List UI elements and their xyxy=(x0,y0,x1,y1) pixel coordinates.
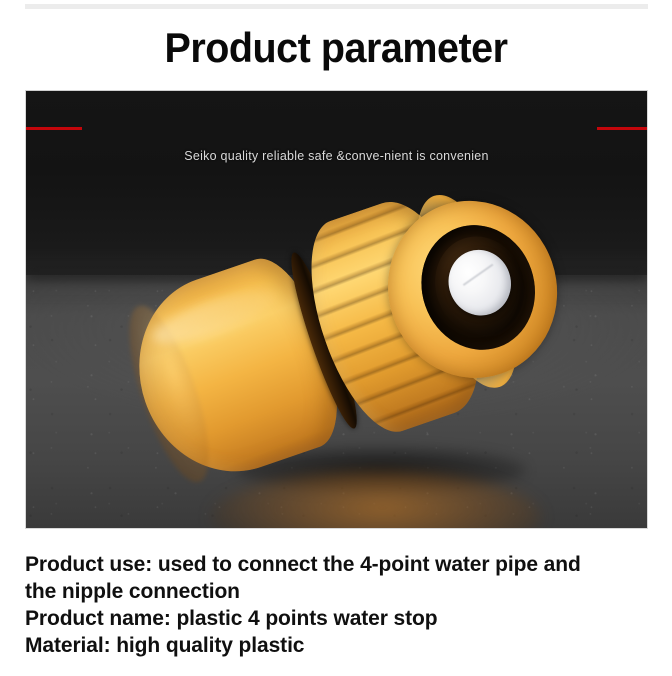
photo-tagline: Seiko quality reliable safe &conve-nient… xyxy=(26,149,647,163)
top-divider-strip xyxy=(25,4,648,9)
description-line: Material: high quality plastic xyxy=(25,632,655,659)
product-parameter-page: Product parameter Seiko quality reliable… xyxy=(0,0,672,676)
description-line: the nipple connection xyxy=(25,578,655,605)
description-line: Product name: plastic 4 points water sto… xyxy=(25,605,655,632)
description-line: Product use: used to connect the 4-point… xyxy=(25,551,655,578)
page-title: Product parameter xyxy=(20,24,652,72)
product-photo: Seiko quality reliable safe &conve-nient… xyxy=(25,90,648,529)
accent-rule-left xyxy=(26,127,82,130)
accent-rule-right xyxy=(597,127,647,130)
product-description-block: Product use: used to connect the 4-point… xyxy=(25,551,655,659)
